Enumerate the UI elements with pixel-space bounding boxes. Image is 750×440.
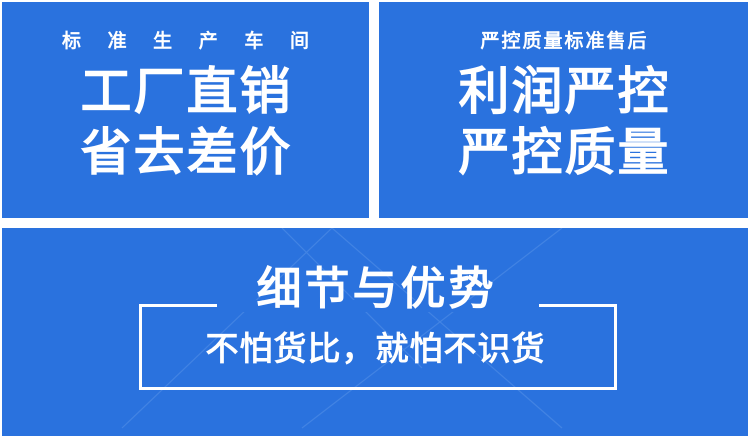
- panel-right-headline-line2: 严控质量: [456, 126, 670, 181]
- panel-left-headline-line2: 省去差价: [78, 126, 292, 181]
- panel-right-headline-line1: 利润严控: [456, 65, 670, 120]
- panel-right-eyebrow: 严控质量标准售后: [478, 32, 648, 51]
- promo-banner: 标 准 生 产 车 间 工厂直销 省去差价 严控质量标准售后 利润严控 严控质量…: [0, 0, 750, 440]
- panel-left-headline-line1: 工厂直销: [78, 65, 292, 120]
- panel-factory-direct: 标 准 生 产 车 间 工厂直销 省去差价: [2, 2, 369, 218]
- bottom-panel-subtitle: 不怕货比，就怕不识货: [2, 332, 748, 365]
- bottom-panel-title: 细节与优势: [2, 266, 748, 311]
- panel-quality-control: 严控质量标准售后 利润严控 严控质量: [379, 2, 748, 218]
- panel-left-eyebrow: 标 准 生 产 车 间: [52, 32, 319, 51]
- panel-right-content: 严控质量标准售后 利润严控 严控质量: [379, 2, 748, 218]
- panel-details-advantages: 细节与优势 不怕货比，就怕不识货: [2, 228, 748, 436]
- panel-left-content: 标 准 生 产 车 间 工厂直销 省去差价: [2, 2, 369, 218]
- panel-bottom-content: 细节与优势 不怕货比，就怕不识货: [2, 228, 748, 436]
